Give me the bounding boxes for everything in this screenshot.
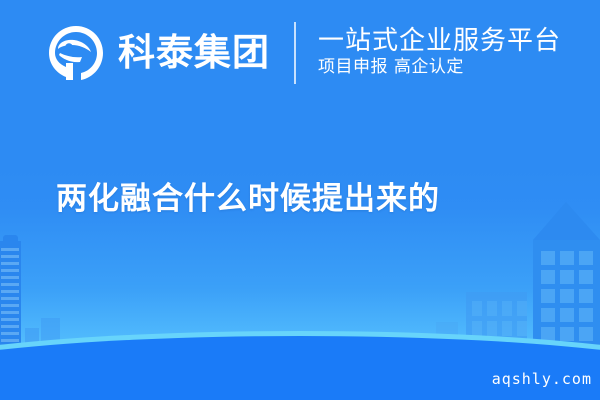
brand-name: 科泰集团 bbox=[118, 34, 270, 71]
arc-body bbox=[0, 336, 600, 400]
tagline-primary: 一站式企业服务平台 bbox=[318, 26, 561, 57]
page-title: 两化融合什么时候提出来的 bbox=[56, 173, 440, 218]
ketai-circle-logo-icon[interactable] bbox=[46, 23, 106, 83]
header-taglines: 一站式企业服务平台 项目申报 高企认定 bbox=[318, 26, 561, 80]
page-banner: 科泰集团 一站式企业服务平台 项目申报 高企认定 两化融合什么时候提出来的 aq… bbox=[0, 0, 600, 400]
tagline-secondary: 项目申报 高企认定 bbox=[318, 56, 561, 79]
banner-header: 科泰集团 一站式企业服务平台 项目申报 高企认定 bbox=[0, 0, 600, 105]
header-divider bbox=[294, 22, 296, 84]
site-watermark: aqshly.com bbox=[492, 370, 592, 388]
